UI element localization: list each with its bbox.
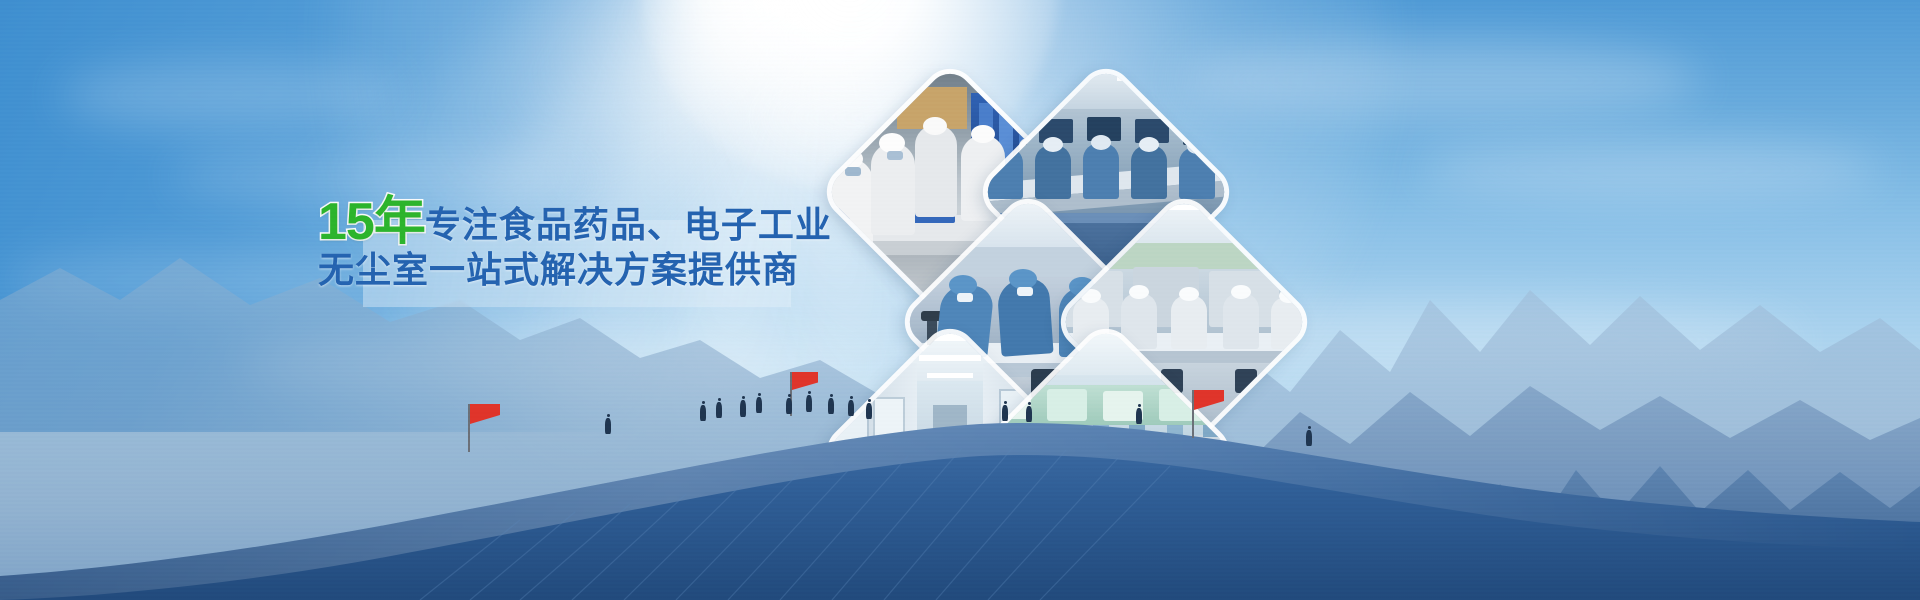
years-number: 15年 bbox=[318, 193, 425, 251]
climber-figure bbox=[1306, 430, 1312, 446]
climber-figure bbox=[1002, 405, 1008, 421]
foreground-ridge bbox=[0, 370, 1920, 600]
promo-banner: 15年专注食品药品、电子工业 无尘室一站式解决方案提供商 bbox=[0, 0, 1920, 600]
headline-block: 15年专注食品药品、电子工业 无尘室一站式解决方案提供商 bbox=[318, 196, 838, 289]
climber-figure bbox=[700, 405, 706, 421]
climber-figure bbox=[828, 398, 834, 414]
headline-line-2: 无尘室一站式解决方案提供商 bbox=[318, 252, 838, 289]
climber-figure bbox=[866, 403, 872, 419]
climber-figure bbox=[848, 400, 854, 416]
climber-figure bbox=[756, 397, 762, 413]
flag-left bbox=[468, 404, 502, 452]
flag-right bbox=[1192, 390, 1226, 438]
climber-figure bbox=[1026, 406, 1032, 422]
climber-figure bbox=[716, 402, 722, 418]
climber-figure bbox=[786, 398, 792, 414]
climber-figure bbox=[1136, 408, 1142, 424]
flag-mid bbox=[790, 372, 820, 416]
climber-figure bbox=[605, 418, 611, 434]
headline-kicker: 专注食品药品、电子工业 bbox=[425, 204, 832, 245]
climber-figure bbox=[806, 395, 812, 412]
climber-figure bbox=[740, 400, 746, 417]
